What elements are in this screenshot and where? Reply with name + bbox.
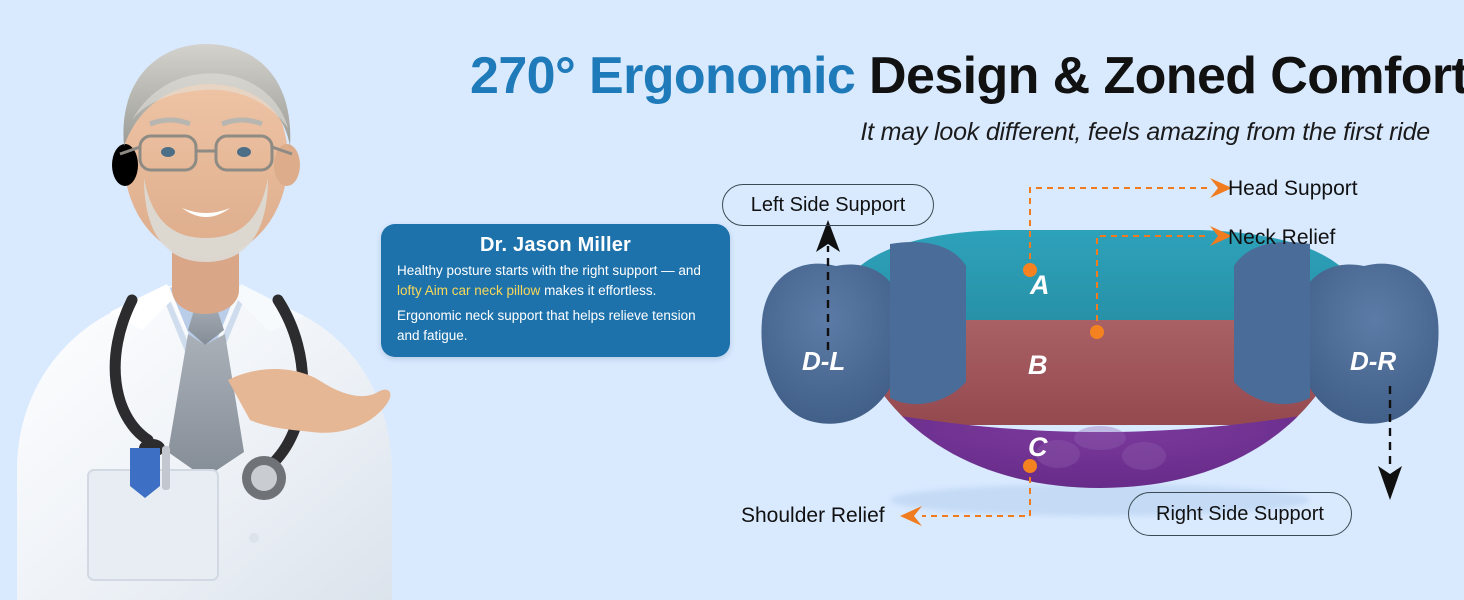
zone-label-c: C <box>1028 432 1048 462</box>
callout-head-support[interactable]: Head Support <box>1228 177 1358 201</box>
zone-dl-inner <box>890 242 966 404</box>
coat-button-1 <box>249 533 259 543</box>
zone-label-dl: D-L <box>802 346 845 376</box>
doctor-quote-body: Healthy posture starts with the right su… <box>381 257 730 345</box>
quote-line1-pre: Healthy posture starts with the right su… <box>397 263 701 278</box>
callout-right-side-support[interactable]: Right Side Support <box>1128 492 1352 536</box>
dot-zone-c <box>1023 459 1037 473</box>
arrow-right-side-support <box>1378 466 1402 500</box>
doctor-name: Dr. Jason Miller <box>381 234 730 257</box>
doctor-illustration <box>0 0 400 600</box>
dot-zone-b <box>1090 325 1104 339</box>
doctor-photo <box>0 0 400 600</box>
page-title: 270° Ergonomic Design & Zoned Comfort <box>470 50 1430 103</box>
zone-c-dimple-2 <box>1122 442 1166 470</box>
zone-dr-wing <box>1296 264 1439 424</box>
doctor-eye-right <box>237 147 251 157</box>
doctor-quote-line-2: Ergonomic neck support that helps reliev… <box>397 306 715 345</box>
zone-label-b: B <box>1028 350 1048 380</box>
coat-pen <box>162 446 170 490</box>
callout-shoulder-relief[interactable]: Shoulder Relief <box>741 504 885 528</box>
callout-left-side-support[interactable]: Left Side Support <box>722 184 934 226</box>
doctor-quote-card: Dr. Jason Miller Healthy posture starts … <box>381 224 730 357</box>
arrow-shoulder-relief <box>900 506 922 526</box>
callout-neck-relief[interactable]: Neck Relief <box>1228 226 1335 250</box>
zone-dr-inner <box>1234 242 1310 404</box>
headline-dark: Design & Zoned Comfort <box>869 47 1464 105</box>
brand-phrase: lofty Aim car neck pillow <box>397 283 540 298</box>
zone-label-dr: D-R <box>1350 346 1396 376</box>
zone-c-dimple-3 <box>1074 426 1126 450</box>
page-subtitle: It may look different, feels amazing fro… <box>470 118 1430 147</box>
doctor-quote-line-1: Healthy posture starts with the right su… <box>397 261 715 300</box>
stethoscope-diaphragm <box>251 465 277 491</box>
quote-line1-post: makes it effortless. <box>540 283 656 298</box>
doctor-eye-left <box>161 147 175 157</box>
dot-zone-a <box>1023 263 1037 277</box>
zone-dl-wing <box>761 264 904 424</box>
infographic-canvas: 270° Ergonomic Design & Zoned Comfort It… <box>0 0 1464 600</box>
headline-accent: 270° Ergonomic <box>470 47 855 105</box>
